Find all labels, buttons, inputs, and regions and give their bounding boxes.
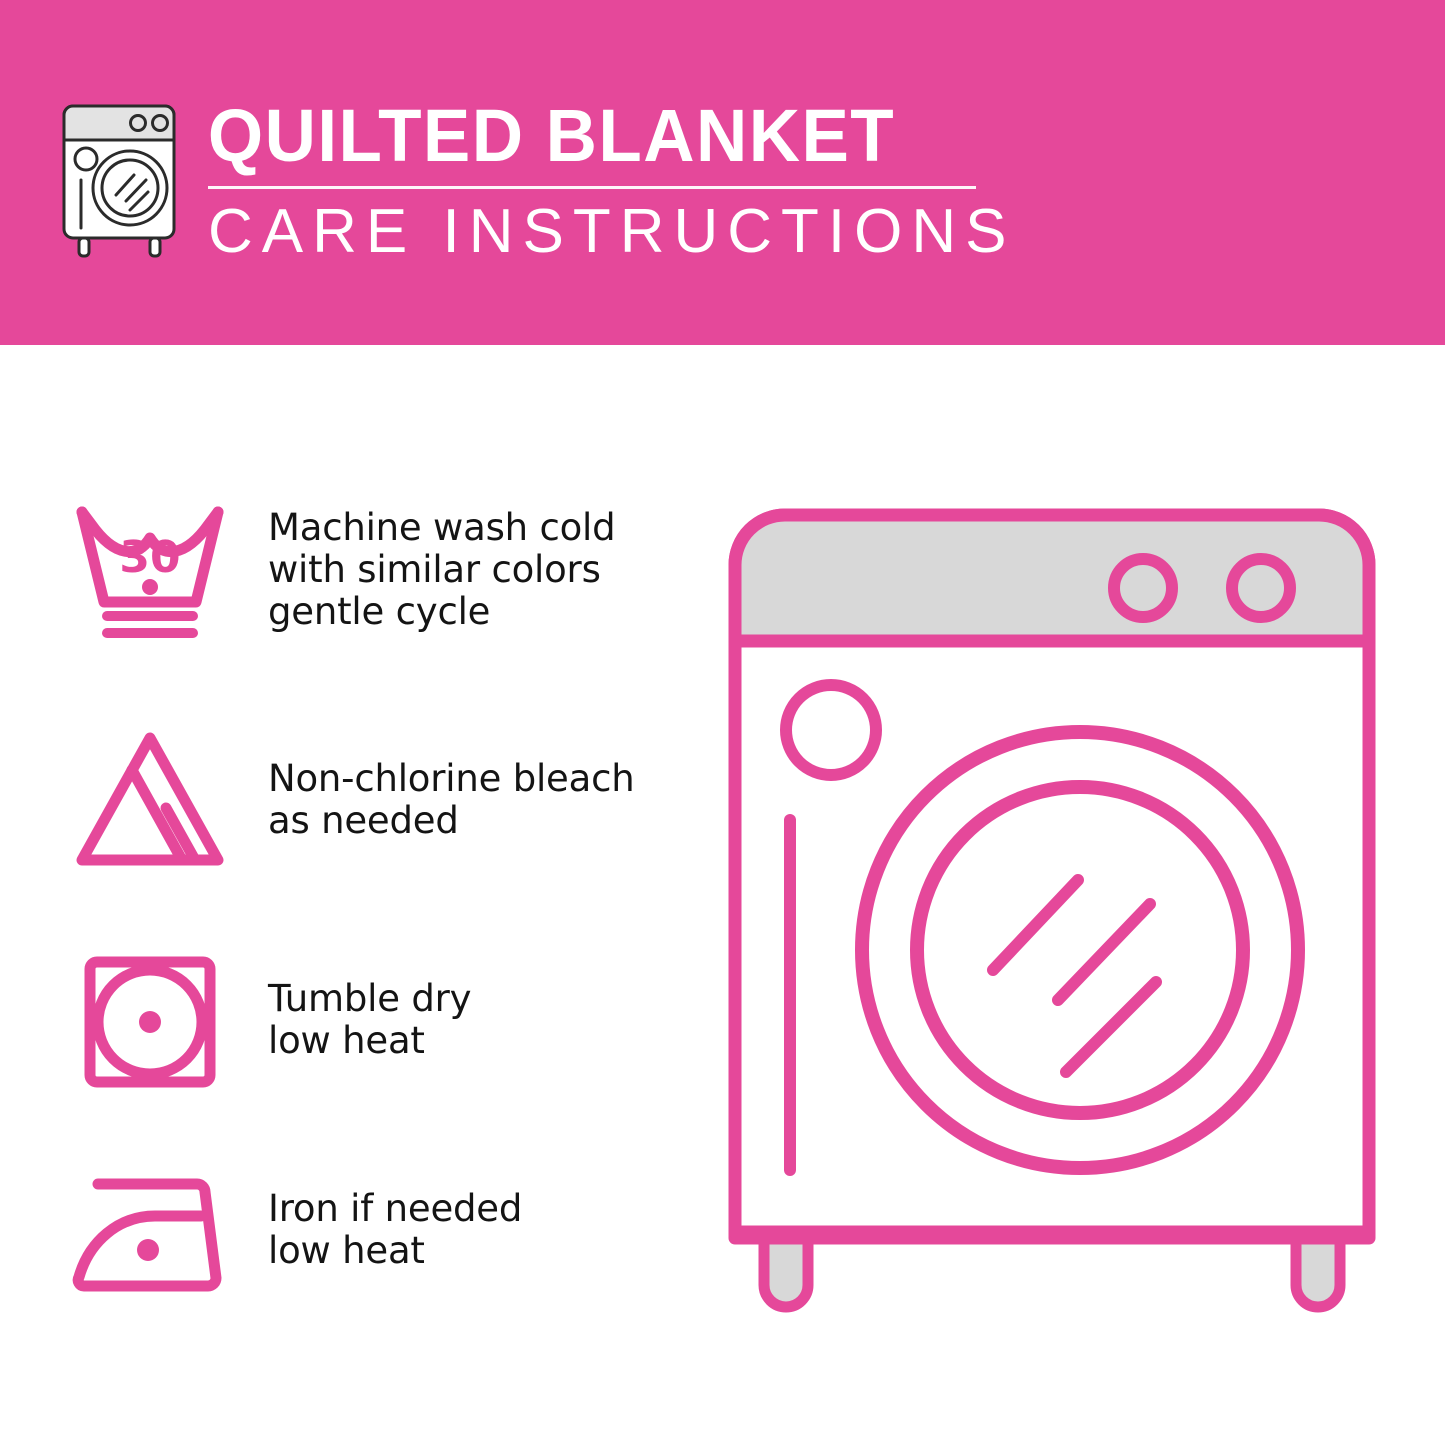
wash-temperature-value: 30 xyxy=(119,532,180,583)
care-text-tumble-dry: Tumble dry low heat xyxy=(268,978,471,1062)
wash-tub-30-gentle-icon: 30 xyxy=(60,490,240,650)
care-text-machine-wash: Machine wash cold with similar colors ge… xyxy=(268,507,615,633)
care-text-line: Iron if needed xyxy=(268,1188,522,1230)
care-row-tumble-dry: Tumble dry low heat xyxy=(60,940,680,1100)
title-divider xyxy=(208,186,976,189)
page-title: QUILTED BLANKET xyxy=(206,96,895,176)
header-content: QUILTED BLANKET CARE INSTRUCTIONS xyxy=(60,96,1015,267)
dial-right xyxy=(1232,559,1290,617)
non-chlorine-bleach-triangle-icon xyxy=(60,720,240,880)
header-text-block: QUILTED BLANKET CARE INSTRUCTIONS xyxy=(206,96,1015,267)
care-instruction-list: 30 Machine wash cold with similar colors… xyxy=(0,345,700,1445)
care-text-line: with similar colors xyxy=(268,549,615,591)
washing-machine-icon xyxy=(60,102,186,260)
care-row-bleach: Non-chlorine bleach as needed xyxy=(60,720,680,880)
dial-left xyxy=(1114,559,1172,617)
care-row-machine-wash: 30 Machine wash cold with similar colors… xyxy=(60,490,680,650)
care-row-iron: Iron if needed low heat xyxy=(60,1150,680,1310)
care-text-bleach: Non-chlorine bleach as needed xyxy=(268,758,635,842)
iron-low-heat-icon xyxy=(60,1150,240,1310)
care-text-line: low heat xyxy=(268,1020,471,1062)
care-instructions-infographic: QUILTED BLANKET CARE INSTRUCTIONS 30 xyxy=(0,0,1445,1445)
care-text-iron: Iron if needed low heat xyxy=(268,1188,522,1272)
page-subtitle: CARE INSTRUCTIONS xyxy=(206,197,1015,267)
care-text-line: Non-chlorine bleach xyxy=(268,758,635,800)
washing-machine-illustration xyxy=(718,470,1418,1370)
care-text-line: as needed xyxy=(268,800,635,842)
header-banner: QUILTED BLANKET CARE INSTRUCTIONS xyxy=(0,0,1445,345)
care-text-line: Machine wash cold xyxy=(268,507,615,549)
care-text-line: gentle cycle xyxy=(268,591,615,633)
tumble-dry-low-icon xyxy=(60,940,240,1100)
care-text-line: Tumble dry xyxy=(268,978,471,1020)
care-text-line: low heat xyxy=(268,1230,522,1272)
